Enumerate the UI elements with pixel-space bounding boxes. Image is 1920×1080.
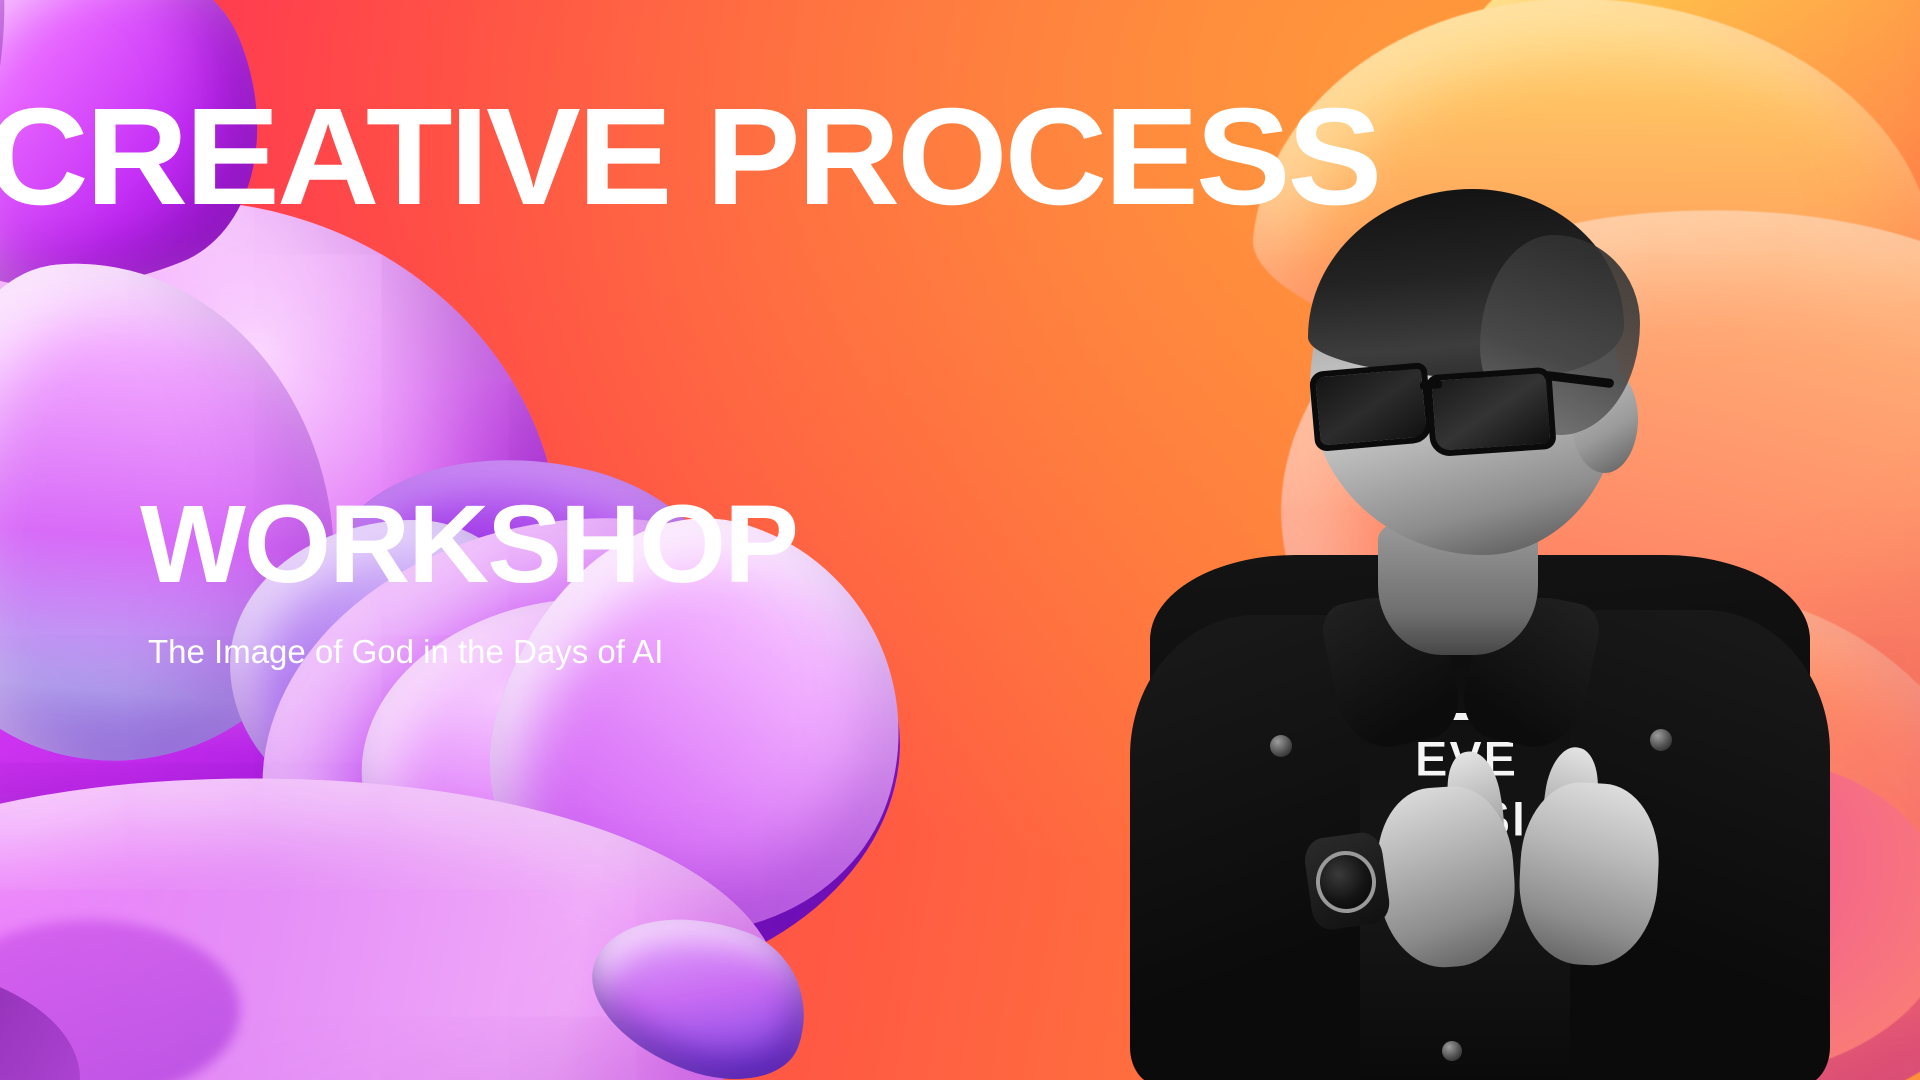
poster-headline: CREATIVE PROCESS: [0, 88, 1379, 226]
poster-subhead: WORKSHOP: [140, 490, 797, 600]
text-layer: CREATIVE PROCESS WORKSHOP The Image of G…: [0, 0, 1920, 1080]
poster-canvas: EVE ERSI CREATIVE PROCESS WORKSHOP The I…: [0, 0, 1920, 1080]
poster-tagline: The Image of God in the Days of AI: [148, 632, 663, 672]
